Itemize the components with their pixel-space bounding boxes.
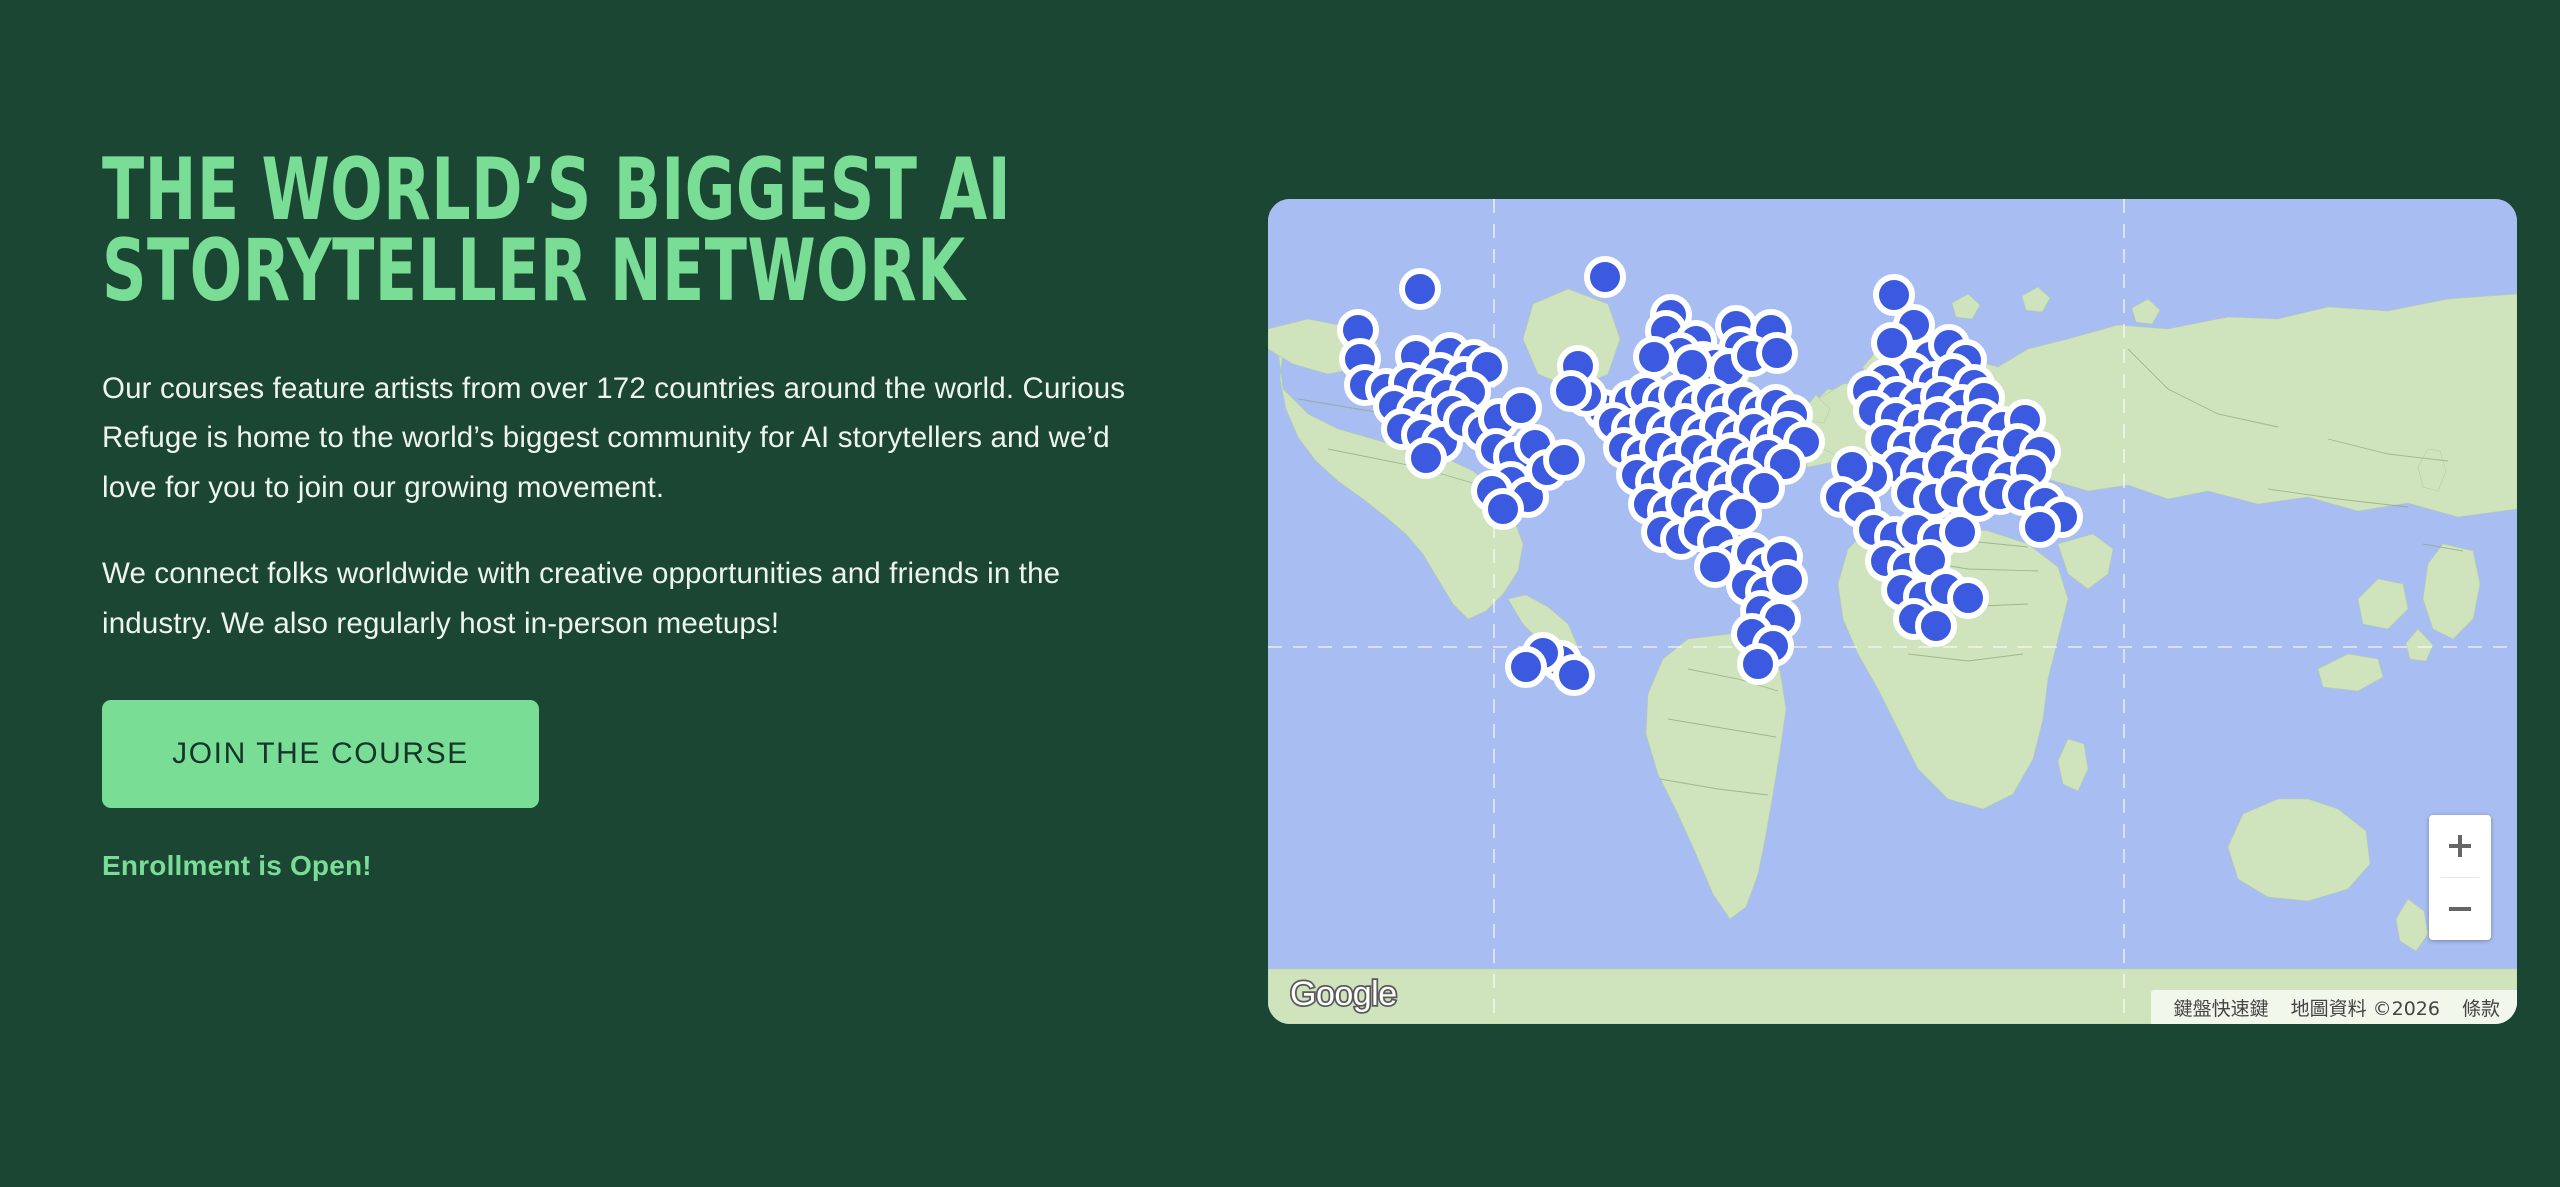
map-canvas[interactable]: 太平洋 <box>1268 199 2517 1024</box>
plus-icon <box>2447 833 2473 859</box>
map-zoom-controls[interactable] <box>2429 815 2491 940</box>
enrollment-status-text: Enrollment is Open! <box>102 850 1182 882</box>
map-marker[interactable] <box>1543 439 1585 481</box>
map-marker[interactable] <box>1756 332 1798 374</box>
hero-section: The World’s Biggest AI Storyteller Netwo… <box>0 0 2560 1187</box>
hero-paragraph-2: We connect folks worldwide with creative… <box>102 549 1147 648</box>
map-marker[interactable] <box>1584 256 1626 298</box>
zoom-out-button[interactable] <box>2429 878 2491 940</box>
map-marker[interactable] <box>2019 506 2061 548</box>
page-title: The World’s Biggest AI Storyteller Netwo… <box>102 150 1182 312</box>
keyboard-shortcuts-link[interactable]: 鍵盤快速鍵 <box>2163 994 2280 1021</box>
map-marker[interactable] <box>1505 646 1547 688</box>
map-marker[interactable] <box>1737 643 1779 685</box>
map-marker[interactable] <box>1947 577 1989 619</box>
hero-description: Our courses feature artists from over 17… <box>102 364 1147 649</box>
map-marker[interactable] <box>1633 336 1675 378</box>
hero-text-column: The World’s Biggest AI Storyteller Netwo… <box>102 150 1182 882</box>
map-marker[interactable] <box>1482 488 1524 530</box>
zoom-in-button[interactable] <box>2429 815 2491 877</box>
terms-link[interactable]: 條款 <box>2451 994 2511 1021</box>
world-map[interactable]: 太平洋 Google 鍵盤快速鍵 地圖資料 ©2026 <box>1268 199 2517 1024</box>
map-marker[interactable] <box>1500 387 1542 429</box>
map-marker[interactable] <box>1915 605 1957 647</box>
map-marker[interactable] <box>1550 370 1592 412</box>
map-marker[interactable] <box>1405 437 1447 479</box>
hero-paragraph-1: Our courses feature artists from over 17… <box>102 364 1147 513</box>
map-data-copyright: 地圖資料 ©2026 <box>2280 994 2451 1021</box>
map-attribution-bar: 鍵盤快速鍵 地圖資料 ©2026 條款 <box>2151 990 2517 1024</box>
minus-icon <box>2447 896 2473 922</box>
google-logo[interactable]: Google <box>1290 975 1397 1014</box>
map-marker[interactable] <box>1399 268 1441 310</box>
map-marker[interactable] <box>1553 654 1595 696</box>
join-the-course-button[interactable]: JOIN THE COURSE <box>102 700 539 808</box>
